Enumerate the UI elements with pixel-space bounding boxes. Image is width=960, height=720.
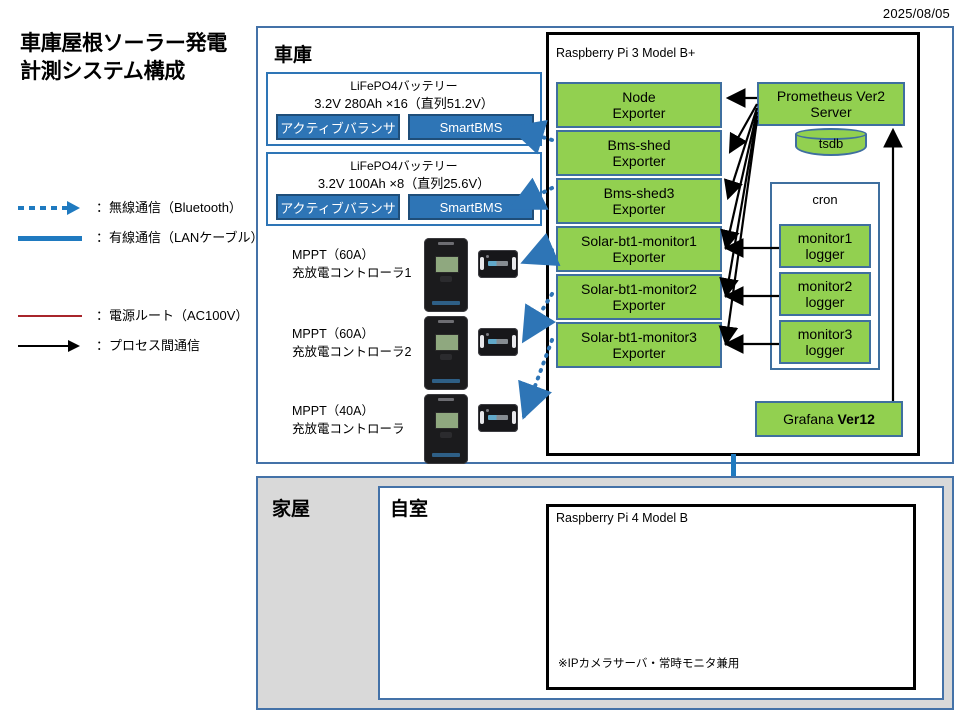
dotted-arrow-icon <box>18 195 90 221</box>
legend-item-wireless: ：無線通信（Bluetooth） <box>18 195 253 221</box>
active-balancer-1: アクティブバランサ <box>276 114 400 140</box>
bms-shed-exporter-line2: Exporter <box>613 153 666 169</box>
smart-bms-1: SmartBMS <box>408 114 534 140</box>
mppt-1-line1: MPPT（60A） <box>292 246 411 264</box>
solar-bt1-monitor3-exporter-box: Solar-bt1-monitor3 Exporter <box>556 322 722 368</box>
node-exporter-line2: Exporter <box>613 105 666 121</box>
legend-item-wired: ：有線通信（LANケーブル） <box>18 225 253 251</box>
logger2-line2: logger <box>806 294 845 310</box>
mppt-1-label: MPPT（60A） 充放電コントローラ1 <box>292 246 411 282</box>
bms-shed-exporter-line1: Bms-shed <box>607 137 670 153</box>
solar3-exporter-line1: Solar-bt1-monitor3 <box>581 329 697 345</box>
bluetooth-dongle-2 <box>478 328 518 356</box>
page-title-line1: 車庫屋根ソーラー発電 <box>20 30 250 58</box>
tsdb-database-cylinder: tsdb <box>795 128 867 156</box>
mppt-1-line2: 充放電コントローラ1 <box>292 264 411 282</box>
solid-blue-line-icon <box>18 225 90 251</box>
bms-shed3-exporter-line1: Bms-shed3 <box>604 185 675 201</box>
date-label: 2025/08/05 <box>883 6 950 21</box>
node-exporter-box: Node Exporter <box>556 82 722 128</box>
bms-shed3-exporter-line2: Exporter <box>613 201 666 217</box>
solid-red-line-icon <box>18 303 90 329</box>
page-title: 車庫屋根ソーラー発電 計測システム構成 <box>20 30 250 87</box>
mppt-3-label: MPPT（40A） 充放電コントローラ <box>292 402 405 438</box>
solar-bt1-monitor2-exporter-box: Solar-bt1-monitor2 Exporter <box>556 274 722 320</box>
raspberry-pi-3-label: Raspberry Pi 3 Model B+ <box>556 46 695 60</box>
black-arrow-icon <box>18 333 90 359</box>
mppt-controller-3-image <box>424 394 468 464</box>
solar1-exporter-line1: Solar-bt1-monitor1 <box>581 233 697 249</box>
mppt-3-line2: 充放電コントローラ <box>292 420 405 438</box>
prometheus-line2: Server <box>810 104 851 120</box>
prometheus-server-box: Prometheus Ver2 Server <box>757 82 905 126</box>
raspberry-pi-4-label: Raspberry Pi 4 Model B <box>556 511 688 525</box>
legend-label-wired: ：有線通信（LANケーブル） <box>96 227 264 246</box>
mppt-3-line1: MPPT（40A） <box>292 402 405 420</box>
logger2-line1: monitor2 <box>798 278 852 294</box>
legend: ：無線通信（Bluetooth） ：有線通信（LANケーブル） ：電源ルート（A… <box>18 195 253 363</box>
legend-label-wireless: ：無線通信（Bluetooth） <box>96 197 242 216</box>
active-balancer-2: アクティブバランサ <box>276 194 400 220</box>
logger1-line2: logger <box>806 246 845 262</box>
legend-spacer <box>18 255 253 299</box>
mppt-controller-2-image <box>424 316 468 390</box>
mppt-controller-1-image <box>424 238 468 312</box>
solar-bt1-monitor1-exporter-box: Solar-bt1-monitor1 Exporter <box>556 226 722 272</box>
battery-2-type: LiFePO4バッテリー <box>268 157 540 174</box>
battery-1-type: LiFePO4バッテリー <box>268 77 540 94</box>
garage-title: 車庫 <box>274 40 312 67</box>
solar2-exporter-line1: Solar-bt1-monitor2 <box>581 281 697 297</box>
battery-pack-1: LiFePO4バッテリー 3.2V 280Ah ×16（直列51.2V） アクテ… <box>266 72 542 146</box>
bms-shed-exporter-box: Bms-shed Exporter <box>556 130 722 176</box>
monitor3-logger-box: monitor3 logger <box>779 320 871 364</box>
monitor2-logger-box: monitor2 logger <box>779 272 871 316</box>
grafana-box: Grafana Ver12 <box>755 401 903 437</box>
legend-item-ipc: ：プロセス間通信 <box>18 333 253 359</box>
grafana-name: Grafana <box>783 411 834 427</box>
prometheus-line1: Prometheus Ver2 <box>777 88 885 104</box>
node-exporter-line1: Node <box>622 89 655 105</box>
smart-bms-2: SmartBMS <box>408 194 534 220</box>
logger1-line1: monitor1 <box>798 230 852 246</box>
room-title: 自室 <box>390 494 428 521</box>
solar2-exporter-line2: Exporter <box>613 297 666 313</box>
solar3-exporter-line2: Exporter <box>613 345 666 361</box>
legend-label-power: ：電源ルート（AC100V） <box>96 305 248 324</box>
tsdb-label: tsdb <box>795 136 867 151</box>
battery-pack-2: LiFePO4バッテリー 3.2V 100Ah ×8（直列25.6V） アクティ… <box>266 152 542 226</box>
cron-label: cron <box>770 192 880 207</box>
logger3-line2: logger <box>806 342 845 358</box>
mppt-2-label: MPPT（60A） 充放電コントローラ2 <box>292 325 411 361</box>
battery-1-spec: 3.2V 280Ah ×16（直列51.2V） <box>268 93 540 112</box>
house-title: 家屋 <box>272 494 310 521</box>
raspberry-pi-4-note: ※IPカメラサーバ・常時モニタ兼用 <box>558 655 739 671</box>
monitor1-logger-box: monitor1 logger <box>779 224 871 268</box>
battery-2-spec: 3.2V 100Ah ×8（直列25.6V） <box>268 173 540 192</box>
mppt-2-line2: 充放電コントローラ2 <box>292 343 411 361</box>
legend-item-power: ：電源ルート（AC100V） <box>18 303 253 329</box>
logger3-line1: monitor3 <box>798 326 852 342</box>
mppt-2-line1: MPPT（60A） <box>292 325 411 343</box>
bms-shed3-exporter-box: Bms-shed3 Exporter <box>556 178 722 224</box>
bluetooth-dongle-1 <box>478 250 518 278</box>
grafana-version: Ver12 <box>838 411 875 427</box>
page-title-line2: 計測システム構成 <box>20 58 250 86</box>
bluetooth-dongle-3 <box>478 404 518 432</box>
legend-label-ipc: ：プロセス間通信 <box>96 335 200 354</box>
solar1-exporter-line2: Exporter <box>613 249 666 265</box>
